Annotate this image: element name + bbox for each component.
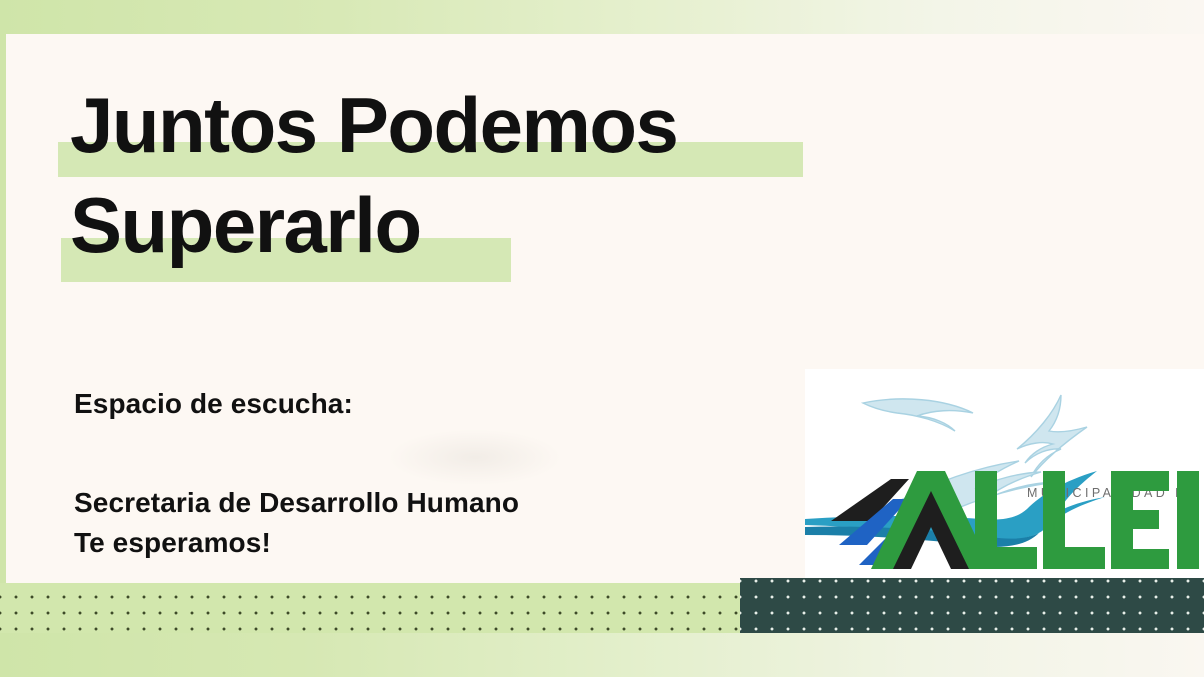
- presentation-slide: Juntos Podemos Superarlo Espacio de escu…: [0, 0, 1204, 677]
- body-line-2: Te esperamos!: [74, 523, 714, 563]
- title-line-2: Superarlo: [55, 186, 875, 282]
- body-line-1: Secretaria de Desarrollo Humano: [74, 483, 714, 523]
- dotted-strip-green: [0, 583, 740, 633]
- title-line-2-text: Superarlo: [55, 186, 421, 264]
- slide-body: Espacio de escucha: Secretaria de Desarr…: [74, 386, 714, 563]
- municipality-logo: MUNICIPALIDAD DE: [805, 369, 1204, 581]
- slide-title: Juntos Podemos Superarlo: [55, 86, 875, 282]
- title-line-1-text: Juntos Podemos: [55, 86, 677, 164]
- bottom-decorative-band: [0, 631, 1204, 677]
- body-spacer: [74, 421, 714, 483]
- title-line-1: Juntos Podemos: [55, 86, 875, 182]
- dotted-strip-dark: [740, 578, 1204, 633]
- top-decorative-band: [0, 0, 1204, 34]
- body-lead-text: Espacio de escucha:: [74, 386, 714, 421]
